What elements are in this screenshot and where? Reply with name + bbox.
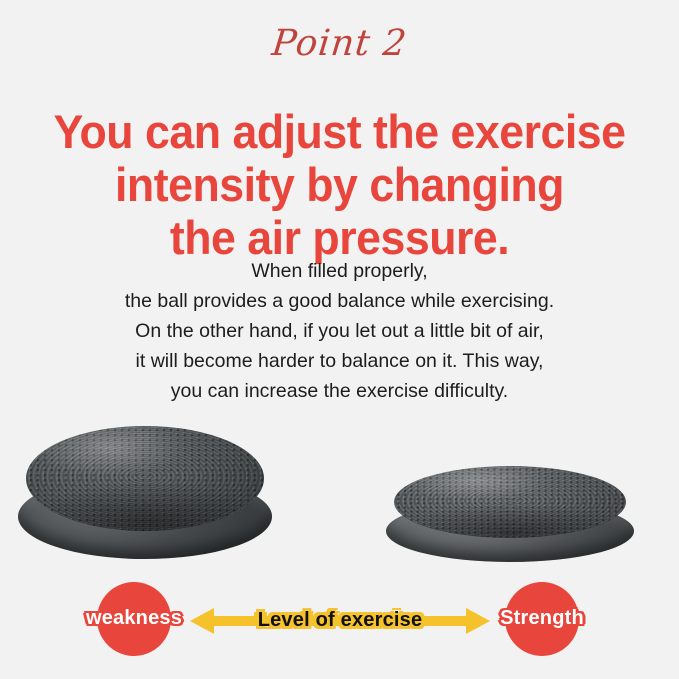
infographic-poster: Point 2 You can adjust the exercise inte…	[0, 0, 679, 679]
disc-highlight-right	[394, 466, 626, 538]
scale-label-strength: Strength	[442, 605, 642, 631]
intensity-scale: Level of exercise weakness Strength	[0, 578, 679, 663]
disc-top-left	[26, 426, 264, 531]
deflated-balance-disc-image	[386, 466, 634, 564]
eyebrow-point-label: Point 2	[0, 26, 679, 62]
body-paragraph: When filled properly, the ball provides …	[0, 256, 679, 406]
body-line-5: you can increase the exercise difficulty…	[0, 376, 679, 406]
body-line-1: When filled properly,	[0, 256, 679, 286]
body-line-2: the ball provides a good balance while e…	[0, 286, 679, 316]
body-line-3: On the other hand, if you let out a litt…	[0, 316, 679, 346]
inflated-balance-disc-image	[18, 426, 272, 561]
headline-line-2: intensity by changing	[17, 158, 662, 211]
headline-line-1: You can adjust the exercise	[17, 105, 662, 158]
disc-top-right	[394, 466, 626, 538]
body-line-4: it will become harder to balance on it. …	[0, 346, 679, 376]
product-image-row	[0, 418, 679, 583]
scale-label-weakness: weakness	[34, 605, 234, 631]
disc-highlight-left	[26, 426, 264, 531]
page-title: You can adjust the exercise intensity by…	[17, 105, 662, 264]
